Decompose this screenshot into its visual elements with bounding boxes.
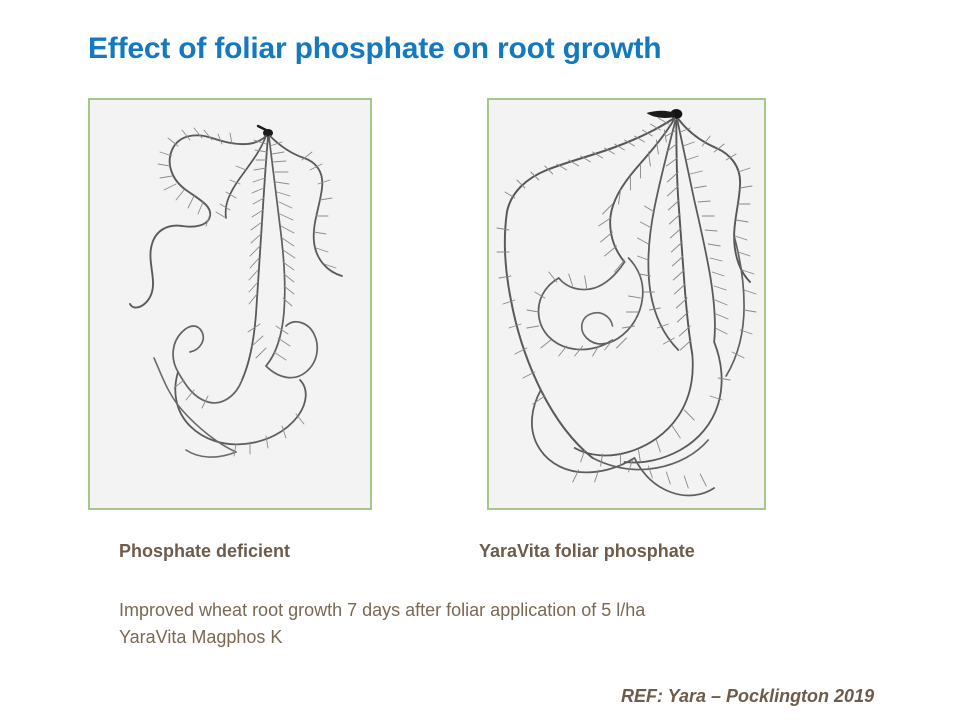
root-scan-treated-illustration: [489, 100, 764, 508]
root-image-frame-deficient: [88, 98, 372, 510]
description-line-2: YaraVita Magphos K: [119, 624, 879, 651]
caption-yaravita-foliar-phosphate: YaraVita foliar phosphate: [479, 541, 695, 562]
caption-phosphate-deficient: Phosphate deficient: [119, 541, 290, 562]
root-scan-deficient-illustration: [90, 100, 370, 508]
reference-footer: REF: Yara – Pocklington 2019: [621, 686, 874, 707]
root-image-frame-treated: [487, 98, 766, 510]
description-line-1: Improved wheat root growth 7 days after …: [119, 597, 879, 624]
description-text: Improved wheat root growth 7 days after …: [119, 597, 879, 651]
slide-canvas: Effect of foliar phosphate on root growt…: [0, 0, 960, 720]
page-title: Effect of foliar phosphate on root growt…: [88, 32, 661, 66]
